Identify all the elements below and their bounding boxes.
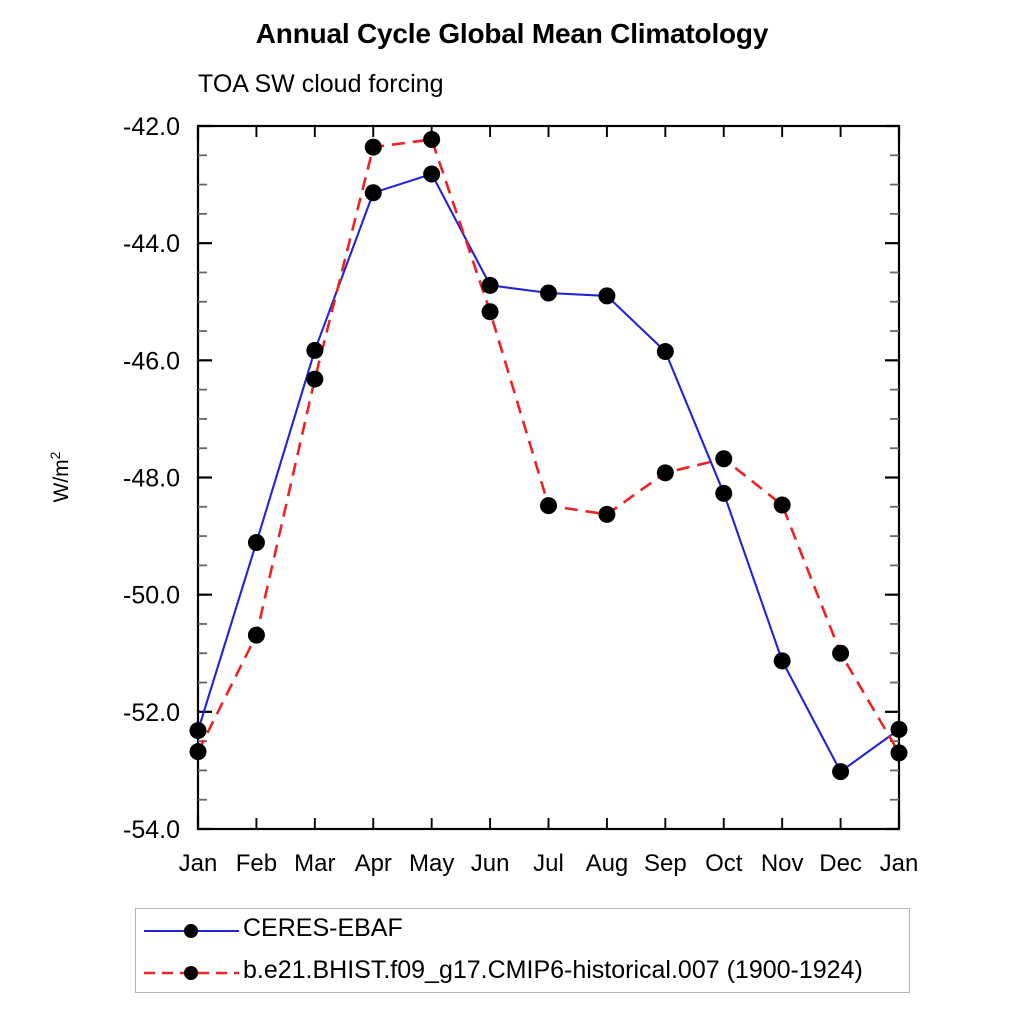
series-layer bbox=[190, 131, 908, 780]
data-point-marker bbox=[715, 485, 732, 502]
x-tick-label: Jan bbox=[179, 850, 218, 877]
y-tick-label: -54.0 bbox=[123, 816, 180, 844]
x-tick-label: May bbox=[409, 850, 454, 877]
data-point-marker bbox=[657, 464, 674, 481]
data-point-marker bbox=[657, 343, 674, 360]
x-tick-label: Jun bbox=[471, 850, 510, 877]
data-point-marker bbox=[365, 139, 382, 156]
data-point-marker bbox=[248, 534, 265, 551]
data-point-marker bbox=[365, 184, 382, 201]
legend-item-1[interactable]: b.e21.BHIST.f09_g17.CMIP6-historical.007… bbox=[136, 953, 909, 993]
data-point-marker bbox=[190, 722, 207, 739]
x-tick-label: Jul bbox=[533, 850, 564, 877]
y-tick-label: -48.0 bbox=[123, 465, 180, 493]
chart-figure: Annual Cycle Global Mean Climatology TOA… bbox=[0, 0, 1024, 1024]
data-point-marker bbox=[774, 497, 791, 514]
data-point-marker bbox=[891, 744, 908, 761]
legend-label-0: CERES-EBAF bbox=[243, 914, 403, 943]
data-point-marker bbox=[598, 506, 615, 523]
data-point-marker bbox=[306, 342, 323, 359]
data-point-marker bbox=[423, 166, 440, 183]
y-tick-label: -42.0 bbox=[123, 113, 180, 141]
axis-tick-labels: -42.0-44.0-46.0-48.0-50.0-52.0-54.0JanFe… bbox=[123, 113, 918, 877]
data-point-marker bbox=[774, 652, 791, 669]
x-tick-label: Feb bbox=[236, 850, 277, 877]
series-line-1 bbox=[198, 140, 899, 753]
data-point-marker bbox=[540, 284, 557, 301]
data-point-marker bbox=[598, 287, 615, 304]
series-line-0 bbox=[198, 174, 899, 772]
data-point-marker bbox=[190, 743, 207, 760]
x-tick-label: Nov bbox=[761, 850, 804, 877]
data-point-marker bbox=[891, 721, 908, 738]
y-tick-label: -52.0 bbox=[123, 699, 180, 727]
y-tick-label: -46.0 bbox=[123, 347, 180, 375]
x-tick-label: Aug bbox=[586, 850, 629, 877]
data-point-marker bbox=[423, 131, 440, 148]
data-point-marker bbox=[832, 645, 849, 662]
legend-swatch-1 bbox=[144, 953, 239, 993]
x-tick-label: Dec bbox=[819, 850, 862, 877]
x-tick-label: Jan bbox=[880, 850, 919, 877]
plot-area: -42.0-44.0-46.0-48.0-50.0-52.0-54.0JanFe… bbox=[0, 0, 1024, 900]
chart-legend: CERES-EBAF b.e21.BHIST.f09_g17.CMIP6-his… bbox=[135, 908, 910, 993]
data-point-marker bbox=[306, 371, 323, 388]
data-point-marker bbox=[715, 450, 732, 467]
x-tick-label: Mar bbox=[294, 850, 335, 877]
x-tick-label: Sep bbox=[644, 850, 687, 877]
legend-label-1: b.e21.BHIST.f09_g17.CMIP6-historical.007… bbox=[243, 956, 863, 985]
x-tick-label: Oct bbox=[705, 850, 743, 877]
x-tick-label: Apr bbox=[355, 850, 392, 877]
data-point-marker bbox=[540, 497, 557, 514]
data-point-marker bbox=[248, 627, 265, 644]
y-tick-label: -44.0 bbox=[123, 230, 180, 258]
data-point-marker bbox=[832, 763, 849, 780]
data-point-marker bbox=[482, 277, 499, 294]
legend-item-0[interactable]: CERES-EBAF bbox=[136, 911, 909, 951]
axes-layer bbox=[198, 126, 899, 829]
data-point-marker bbox=[482, 303, 499, 320]
y-tick-label: -50.0 bbox=[123, 582, 180, 610]
axis-frame bbox=[198, 126, 899, 829]
legend-swatch-0 bbox=[144, 911, 239, 951]
